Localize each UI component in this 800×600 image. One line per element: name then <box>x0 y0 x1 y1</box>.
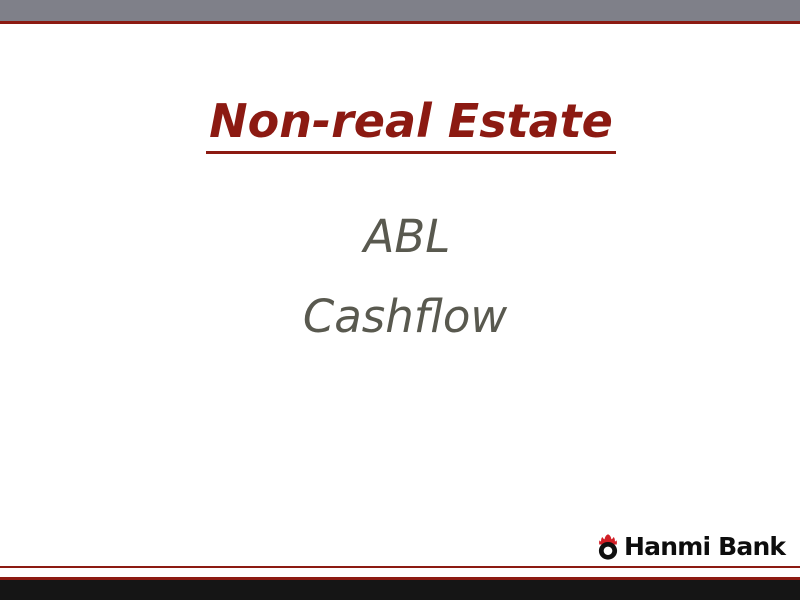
footer-accent-rule-top <box>0 566 800 568</box>
hanmi-bank-logo-text: Hanmi Bank <box>624 534 785 559</box>
slide-subtitle-line-2: Cashflow <box>5 292 800 342</box>
slide-canvas: Non-real Estate ABL Cashflow Hanmi Bank <box>0 0 800 600</box>
header-accent-rule <box>0 21 800 24</box>
page-title: Non-real Estate <box>206 95 616 154</box>
slide-subtitle-line-1: ABL <box>7 212 800 262</box>
hanmi-ring-crown-icon <box>595 533 621 560</box>
footer-black-band <box>0 580 800 600</box>
header-gray-band <box>0 0 800 21</box>
hanmi-bank-logo: Hanmi Bank <box>595 530 785 562</box>
slide-title-container: Non-real Estate <box>0 95 800 154</box>
